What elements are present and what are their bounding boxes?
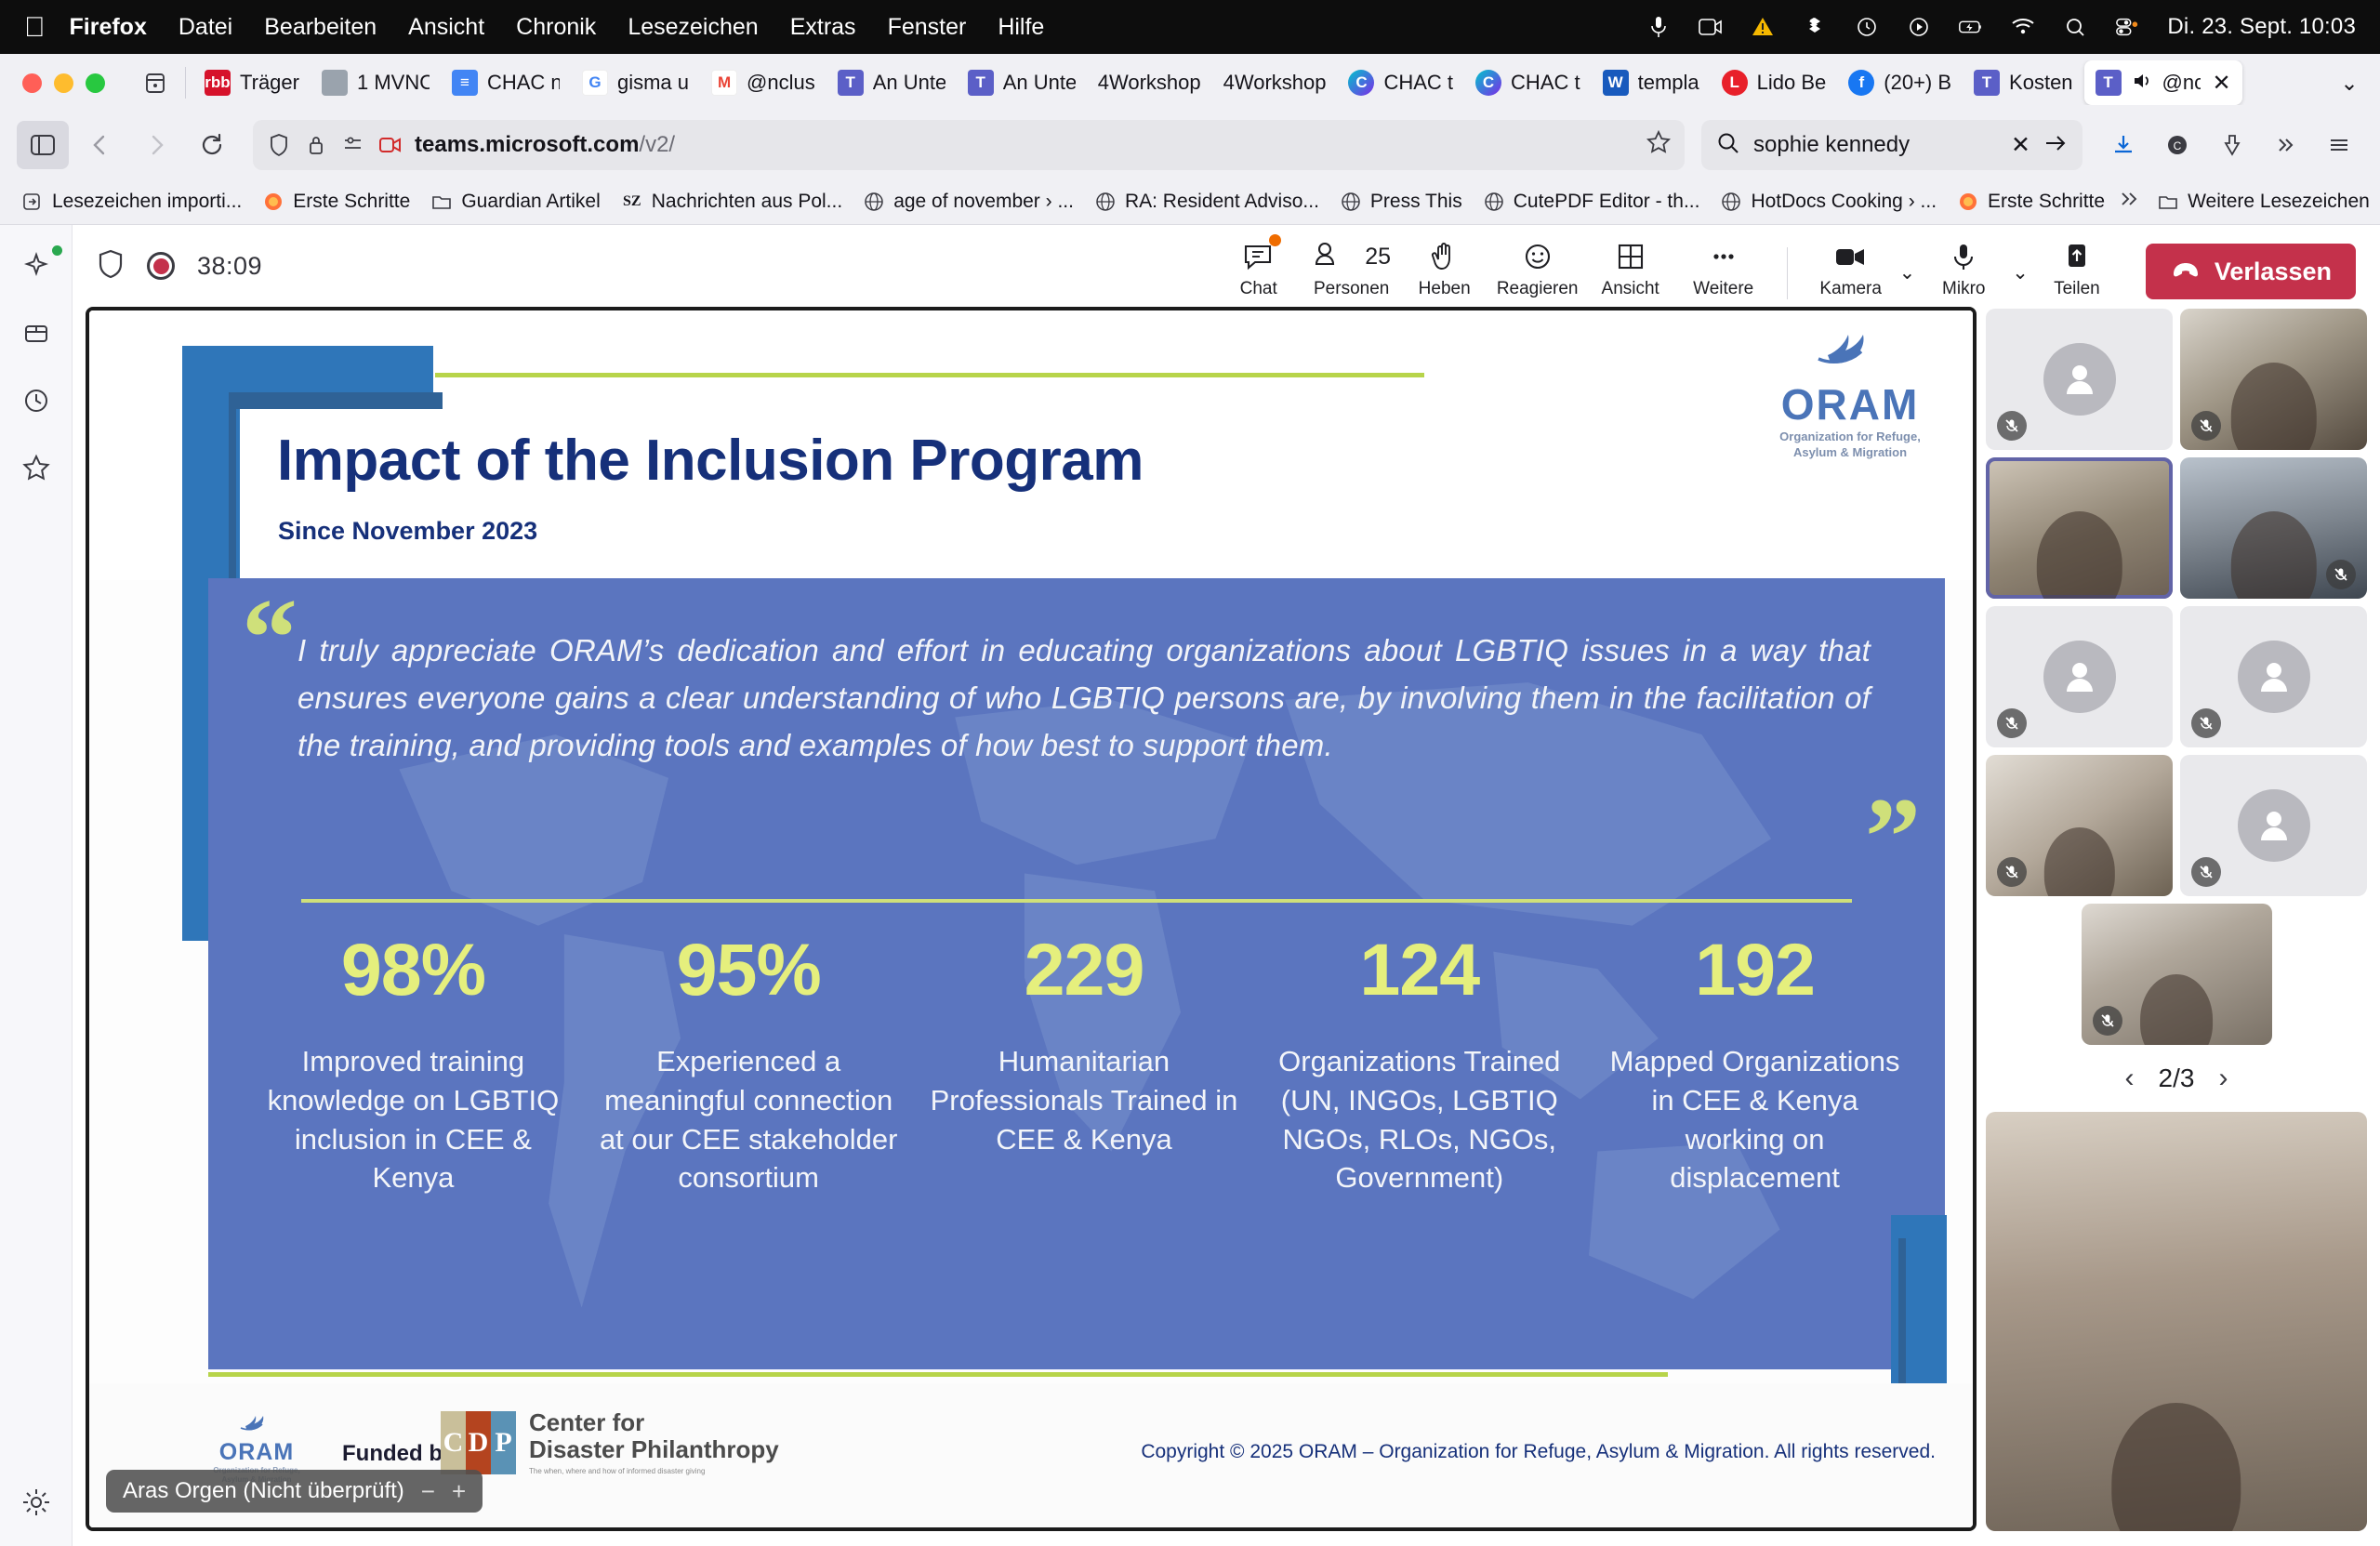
bookmark-label: Erste Schritte [293,191,410,213]
browser-tab[interactable]: C CHAC t [1337,60,1464,105]
address-bar[interactable]: teams.microsoft.com/v2/ [253,120,1685,170]
stat-item: 98% Improved training knowledge on LGBTI… [245,932,581,1197]
ms-teams-icon: T [968,70,994,96]
maximize-window-button[interactable] [86,73,105,93]
time-machine-icon[interactable] [1855,14,1879,40]
bookmarks-toolbar: Lesezeichen importi... Erste Schritte Gu… [0,178,2380,225]
browser-tab[interactable]: 1 MVNO [311,60,441,105]
bookmark-label: Lesezeichen importi... [52,191,242,213]
back-arrow-icon[interactable] [76,121,125,169]
meeting-status-group: 38:09 [97,248,262,284]
bookmark-item[interactable]: Erste Schritte [254,187,418,217]
avatar [2043,641,2116,713]
camera-icon [1832,238,1870,275]
close-window-button[interactable] [22,73,42,93]
globe-icon [1340,191,1362,213]
url-domain: teams.microsoft.com [415,132,639,157]
cdp-letter-mark: C D P [441,1411,516,1474]
lido-icon: L [1722,70,1748,96]
recording-indicator-icon[interactable] [147,252,175,280]
raise-hand-label: Heben [1419,279,1471,299]
browser-toolbar-actions: C [2099,121,2363,169]
bookmark-label: Erste Schritte [1988,191,2105,213]
participant-count: 25 [1365,244,1391,271]
browser-tab[interactable]: L Lido Be [1711,60,1838,105]
oram-wordmark: ORAM [1757,382,1943,427]
mic-muted-icon [1997,708,2027,738]
participant-tile[interactable] [2082,904,2272,1045]
bookmark-item[interactable]: Press This [1331,187,1471,217]
mic-muted-icon [2191,411,2221,441]
browser-tab[interactable]: f (20+) B [1837,60,1963,105]
tab-title: An Unte [1003,71,1076,95]
participant-tile[interactable] [2180,755,2367,896]
browser-tab[interactable]: ≡ CHAC n [441,60,571,105]
stat-value: 95% [594,932,904,1009]
browser-tab-active[interactable]: T @nc ✕ [2084,60,2242,105]
mic-muted-icon [1997,411,2027,441]
saved-star-icon[interactable] [15,446,58,489]
participant-video [2043,827,2114,896]
tab-strip: rbb Träger 1 MVNO ≡ CHAC n G gisma u M @… [0,54,2380,112]
people-icon: 25 [1312,238,1391,275]
menu-extras[interactable]: Extras [790,14,856,41]
cdp-letter-p: P [491,1411,516,1474]
menu-bar-clock[interactable]: Di. 23. Sept. 10:03 [2167,14,2356,40]
browser-tab[interactable]: T An Unte [826,60,957,105]
browser-tab[interactable]: W templa [1592,60,1711,105]
meeting-stage: Impact of the Inclusion Program Since No… [73,307,2380,1546]
mic-muted-icon [2191,708,2221,738]
leave-label: Verlassen [2215,258,2332,286]
folder-icon [430,191,453,213]
tab-title: gisma u [617,71,689,95]
cdp-letter-d: D [466,1411,491,1474]
canva-icon: C [1348,70,1374,96]
browser-tab[interactable]: T Kosten [1963,60,2084,105]
chat-button[interactable]: Chat [1214,232,1303,299]
spotlight-search-icon[interactable] [2063,14,2087,40]
bookmark-label: Nachrichten aus Pol... [652,191,842,213]
macos-status-items: Di. 23. Sept. 10:03 [1646,14,2356,40]
participant-video [2230,511,2316,599]
control-center-icon[interactable] [2115,14,2139,40]
tab-title: Lido Be [1757,71,1827,95]
globe-icon [1094,191,1117,213]
canva-icon: C [1475,70,1501,96]
copyright-text: Copyright © 2025 ORAM – Organization for… [1141,1441,1936,1463]
participant-tile[interactable] [1986,606,2173,747]
activity-status-dot [52,245,62,256]
meeting-toolbar: 38:09 Chat 25 Personen [73,225,2380,307]
google-docs-icon: ≡ [452,70,478,96]
tab-title: @nc [2162,71,2201,95]
bookmark-folder-more[interactable]: Weitere Lesezeichen [2149,187,2378,217]
bookmark-star-icon[interactable] [1646,129,1672,162]
mic-muted-icon [1997,857,2027,887]
avatar [2238,789,2310,862]
bookmark-item[interactable]: Guardian Artikel [422,187,608,217]
toolbar-divider [1787,247,1788,299]
menu-lesezeichen[interactable]: Lesezeichen [628,14,758,41]
stat-label: Experienced a meaningful connection at o… [594,1042,904,1197]
reactions-label: Reagieren [1497,279,1579,299]
meeting-view: 38:09 Chat 25 Personen [73,225,2380,1546]
view-grid-icon [1615,238,1646,275]
list-all-tabs-icon[interactable] [137,64,174,101]
people-button[interactable]: 25 Personen [1307,232,1396,299]
go-arrow-icon[interactable] [2043,133,2068,158]
activity-sparkle-icon[interactable] [15,245,58,288]
participant-video [2036,511,2122,599]
stat-value: 192 [1600,932,1910,1009]
mic-muted-icon [2093,1006,2122,1036]
cdp-logo: C D P Center for Disaster Philanthropy T… [441,1409,779,1475]
stat-item: 124 Organizations Trained (UN, INGOs, LG… [1251,932,1587,1197]
teams-app: 38:09 Chat 25 Personen [0,225,2380,1546]
tab-title: An Unte [873,71,945,95]
firefox-chrome: rbb Träger 1 MVNO ≡ CHAC n G gisma u M @… [0,54,2380,225]
tab-list: rbb Träger 1 MVNO ≡ CHAC n G gisma u M @… [193,60,2328,105]
search-icon [1716,131,1740,160]
more-button[interactable]: Weitere [1679,232,1768,299]
menu-hilfe[interactable]: Hilfe [998,14,1044,41]
facebook-icon: f [1848,70,1874,96]
warning-icon[interactable] [1751,14,1775,40]
microphone-icon [1950,238,1977,275]
folder-icon [2157,191,2179,213]
participant-roster: ‹ 2/3 › [1986,307,2367,1531]
participant-video [2230,363,2316,450]
cdp-tagline: The when, where and how of informed disa… [529,1467,779,1475]
bookmarks-overflow: Weitere Lesezeichen [2117,187,2378,217]
hang-up-icon [2170,258,2201,286]
chevron-left-icon[interactable]: ‹ [2125,1063,2135,1094]
tab-title: @nclus [747,71,815,95]
macos-menu-bar:  Firefox Datei Bearbeiten Ansicht Chron… [0,0,2380,54]
slide-accent-line-bottom [208,1372,1668,1377]
bookmark-label: Weitere Lesezeichen [2188,191,2370,213]
oram-tagline: Organization for Refuge,Asylum & Migrati… [1757,429,1943,460]
avatar [2238,641,2310,713]
bookmark-label: age of november › ... [893,191,1074,213]
slide-corner-bracket-inner [229,392,443,409]
slide-subtitle: Since November 2023 [278,517,537,546]
view-button[interactable]: Ansicht [1586,232,1675,299]
people-label: Personen [1314,279,1389,299]
tab-title: CHAC t [1511,71,1580,95]
tab-separator [185,67,186,99]
participant-tile-active-speaker[interactable] [1986,457,2173,599]
reload-icon[interactable] [188,121,236,169]
more-options-icon [1708,238,1739,275]
speaker-playing-icon[interactable] [2131,70,2153,97]
browser-tab[interactable]: M @nclus [700,60,826,105]
overflow-chevrons-icon[interactable] [2117,189,2141,215]
bookmark-item[interactable]: RA: Resident Adviso... [1086,187,1328,217]
slide-quote-text: I truly appreciate ORAM’s dedication and… [297,627,1871,769]
globe-icon [1483,191,1505,213]
settings-gear-icon[interactable] [15,1481,58,1524]
participant-video [2111,1403,2241,1531]
chevron-right-icon[interactable]: › [2218,1063,2228,1094]
close-tab-icon[interactable]: ✕ [2212,70,2230,97]
roster-pagination: ‹ 2/3 › [1986,1052,2367,1104]
participant-video [2140,974,2213,1045]
zoom-out-button[interactable]: − [421,1477,435,1506]
share-label: Teilen [2054,279,2100,299]
menu-bearbeiten[interactable]: Bearbeiten [264,14,377,41]
tracking-protection-shield-icon[interactable] [266,132,292,158]
apps-icon[interactable] [15,312,58,355]
browser-tab[interactable]: rbb Träger [193,60,311,105]
bookmark-item[interactable]: SZ Nachrichten aus Pol... [613,187,851,217]
pocket-save-icon[interactable] [2207,121,2255,169]
rbb-icon: rbb [205,70,231,96]
browser-tab[interactable]: T An Unte [957,60,1087,105]
cdp-name: Center for Disaster Philanthropy The whe… [529,1409,779,1475]
camera-label: Kamera [1819,279,1882,299]
chat-unread-badge [1269,234,1281,246]
ms-teams-icon: T [1974,70,2000,96]
bookmark-label: CutePDF Editor - th... [1514,191,1700,213]
globe-icon [1720,191,1742,213]
chat-label: Chat [1240,279,1277,299]
cdp-name-line1: Center for [529,1409,779,1436]
impact-stats: 98% Improved training knowledge on LGBTI… [245,932,1923,1197]
dropbox-icon[interactable] [1803,14,1827,40]
slide-quote-divider [301,899,1852,903]
tab-title: Kosten [2009,71,2073,95]
page-title: Impact of the Inclusion Program [277,428,1144,494]
chevron-down-icon[interactable]: ⌄ [2328,61,2371,104]
tab-title: (20+) B [1884,71,1951,95]
oram-wordmark: ORAM [205,1439,308,1466]
ms-teams-icon: T [838,70,864,96]
tab-title: 4Workshop [1098,71,1201,95]
cdp-name-line2: Disaster Philanthropy [529,1436,779,1463]
svg-text:C: C [2174,139,2182,152]
bookmark-item[interactable]: Erste Schritte [1949,187,2113,217]
site-permissions-icon[interactable] [340,132,366,158]
presenter-name: Aras Orgen (Nicht überprüft) [123,1478,404,1504]
meeting-timer: 38:09 [197,252,262,281]
stat-item: 192 Mapped Organizations in CEE & Kenya … [1587,932,1923,1197]
bookmark-item[interactable]: HotDocs Cooking › ... [1712,187,1945,217]
ms-teams-icon: T [2096,70,2122,96]
stat-item: 229 Humanitarian Professionals Trained i… [917,932,1252,1197]
bookmark-label: RA: Resident Adviso... [1125,191,1319,213]
browser-tab[interactable]: 4Workshop [1087,60,1212,105]
share-screen-icon [2063,238,2091,275]
tab-title: CHAC t [1383,71,1453,95]
bookmark-item[interactable]: CutePDF Editor - th... [1474,187,1709,217]
browser-tab[interactable]: C CHAC t [1464,60,1592,105]
slide-header: Impact of the Inclusion Program Since No… [89,311,1973,580]
stat-label: Organizations Trained (UN, INGOs, LGBTIQ… [1264,1042,1574,1197]
reactions-smiley-icon [1522,238,1554,275]
quote-close-mark: ” [1865,792,1921,881]
google-icon: G [582,70,608,96]
slide-accent-line-top [435,373,1424,377]
slide-quote-panel: “ ” I truly appreciate ORAM’s dedication… [208,578,1945,1369]
bookmark-label: Guardian Artikel [461,191,600,213]
raise-hand-button[interactable]: Heben [1400,232,1489,299]
recent-clock-icon[interactable] [15,379,58,422]
tab-title: 4Workshop [1223,71,1327,95]
stat-value: 124 [1264,932,1574,1009]
participant-tile[interactable] [1986,755,2173,896]
mic-chevron-down-icon[interactable]: ⌄ [2012,261,2029,299]
view-label: Ansicht [1602,279,1659,299]
media-play-icon[interactable] [1907,14,1931,40]
stat-value: 98% [258,932,568,1009]
stat-label: Humanitarian Professionals Trained in CE… [930,1042,1239,1159]
browser-tab[interactable]: G gisma u [571,60,700,105]
mic-muted-icon [2191,857,2221,887]
more-label: Weitere [1693,279,1753,299]
menu-chronik[interactable]: Chronik [516,14,596,41]
roster-page-indicator: 2/3 [2159,1064,2195,1093]
mic-button[interactable]: Mikro [1919,232,2008,299]
gmail-icon: M [711,70,737,96]
oram-logo: ORAM Organization for Refuge,Asylum & Mi… [1757,322,1943,460]
generic-site-icon [322,70,348,96]
presenter-name-badge: Aras Orgen (Nicht überprüft) − + [106,1470,483,1513]
meeting-controls: Chat 25 Personen Heben [1214,232,2356,299]
downloads-icon[interactable] [2099,121,2148,169]
wifi-icon[interactable] [2011,14,2035,40]
forward-arrow-icon[interactable] [132,121,180,169]
avatar [2043,343,2116,416]
bookmark-item[interactable]: age of november › ... [854,187,1082,217]
reactions-button[interactable]: Reagieren [1493,232,1582,299]
minimize-window-button[interactable] [54,73,73,93]
tab-title: templa [1638,71,1699,95]
leave-button[interactable]: Verlassen [2146,244,2356,299]
raise-hand-icon [1430,238,1460,275]
battery-charging-icon [1959,14,1983,40]
zoom-in-button[interactable]: + [452,1477,466,1506]
overflow-chevrons-icon[interactable] [2261,121,2309,169]
stat-label: Improved training knowledge on LGBTIQ in… [258,1042,568,1197]
teams-left-rail [0,225,73,1546]
shared-content-pane[interactable]: Impact of the Inclusion Program Since No… [86,307,1977,1531]
container-tabs-icon[interactable]: C [2153,121,2201,169]
menu-fenster[interactable]: Fenster [888,14,967,41]
apple-menu-icon[interactable]:  [24,15,46,40]
participant-tile[interactable] [1986,309,2173,450]
dove-icon [1757,322,1943,382]
presentation-slide: Impact of the Inclusion Program Since No… [89,311,1973,1527]
share-button[interactable]: Teilen [2032,232,2122,299]
camera-sharing-icon[interactable] [377,132,403,158]
stat-label: Mapped Organizations in CEE & Kenya work… [1600,1042,1910,1197]
participant-tile[interactable] [2180,309,2367,450]
window-controls[interactable] [9,73,122,93]
quote-open-mark: “ [242,593,297,682]
search-input[interactable]: sophie kennedy [1753,132,1998,158]
tab-title: CHAC n [487,71,560,95]
browser-tab[interactable]: 4Workshop [1212,60,1338,105]
search-bar[interactable]: sophie kennedy ✕ [1701,120,2082,170]
stat-value: 229 [930,932,1239,1009]
camera-button[interactable]: Kamera [1806,232,1896,299]
menu-ansicht[interactable]: Ansicht [408,14,484,41]
import-bookmarks-icon [21,191,44,213]
microphone-icon[interactable] [1646,14,1671,40]
sidebar-toggle-icon[interactable] [17,121,69,169]
participant-tile-grid [1986,309,2367,1045]
padlock-icon[interactable] [303,132,329,158]
participant-tile[interactable] [2180,457,2367,599]
url-text: teams.microsoft.com/v2/ [415,132,675,158]
mic-label: Mikro [1942,279,1985,299]
ms-word-icon: W [1603,70,1629,96]
navigation-toolbar: teams.microsoft.com/v2/ sophie kennedy ✕… [0,112,2380,178]
meeting-protection-shield-icon[interactable] [97,248,125,284]
stat-item: 95% Experienced a meaningful connection … [581,932,917,1197]
dove-icon [205,1409,308,1439]
clear-search-icon[interactable]: ✕ [2011,131,2030,159]
spotlight-participant-tile[interactable] [1986,1112,2367,1531]
participant-tile[interactable] [2180,606,2367,747]
menu-firefox[interactable]: Firefox [70,14,147,41]
bookmark-label: Press This [1370,191,1462,213]
tab-title: Träger [240,71,299,95]
screen-record-icon[interactable] [1699,14,1723,40]
cdp-letter-c: C [441,1411,466,1474]
firefox-icon [1957,191,1979,213]
mic-muted-icon [2326,560,2356,589]
url-path: /v2/ [639,132,675,157]
firefox-icon [262,191,284,213]
hamburger-menu-icon[interactable] [2315,121,2363,169]
menu-datei[interactable]: Datei [178,14,232,41]
tab-title: 1 MVNO [357,71,430,95]
camera-chevron-down-icon[interactable]: ⌄ [1899,261,1916,299]
bookmark-label: HotDocs Cooking › ... [1751,191,1937,213]
globe-icon [863,191,885,213]
bookmark-item[interactable]: Lesezeichen importi... [13,187,250,217]
sz-icon: SZ [621,191,643,213]
